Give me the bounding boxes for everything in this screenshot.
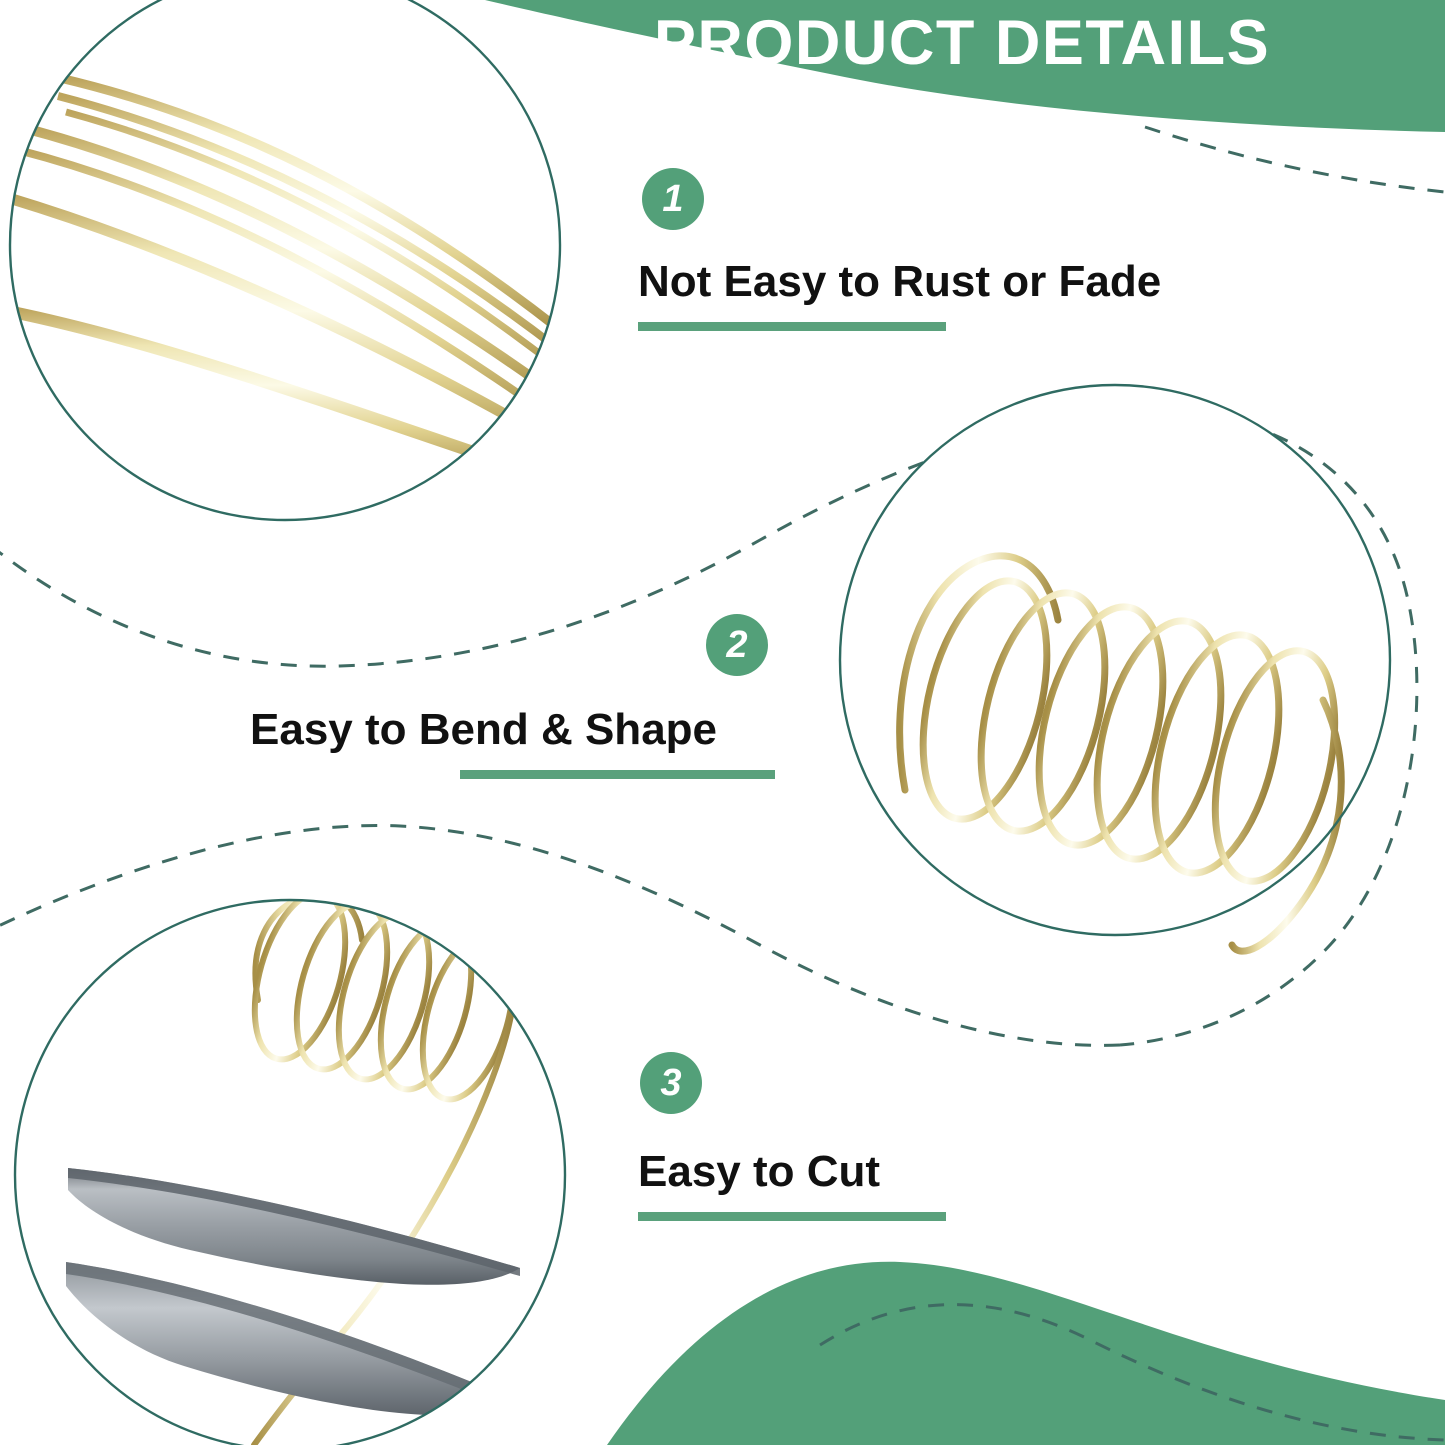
- photo-circle-wire-strands: [0, 0, 572, 530]
- feature-block-3: 3 Easy to Cut: [638, 1052, 946, 1221]
- footer-green-wave: [607, 1262, 1445, 1445]
- photo-circle-scissors-cut: [15, 882, 575, 1445]
- photo-circle-wire-coil: [840, 385, 1400, 951]
- feature-block-2: 2 Easy to Bend & Shape: [250, 614, 775, 779]
- feature-number-badge-1: 1: [642, 168, 704, 230]
- feature-title-2: Easy to Bend & Shape: [250, 704, 775, 756]
- dashed-curve-top: [1145, 127, 1445, 192]
- feature-block-1: 1 Not Easy to Rust or Fade: [638, 168, 1161, 331]
- page-title: PRODUCT DETAILS: [612, 8, 1312, 78]
- feature-underline-3: [638, 1212, 946, 1221]
- feature-number-badge-3: 3: [640, 1052, 702, 1114]
- product-details-infographic: PRODUCT DETAILS 1 Not Easy to Rust or Fa…: [0, 0, 1445, 1445]
- feature-underline-1: [638, 322, 946, 331]
- feature-title-3: Easy to Cut: [638, 1146, 946, 1198]
- feature-number-badge-2: 2: [706, 614, 768, 676]
- feature-underline-2: [460, 770, 775, 779]
- feature-title-1: Not Easy to Rust or Fade: [638, 256, 1161, 308]
